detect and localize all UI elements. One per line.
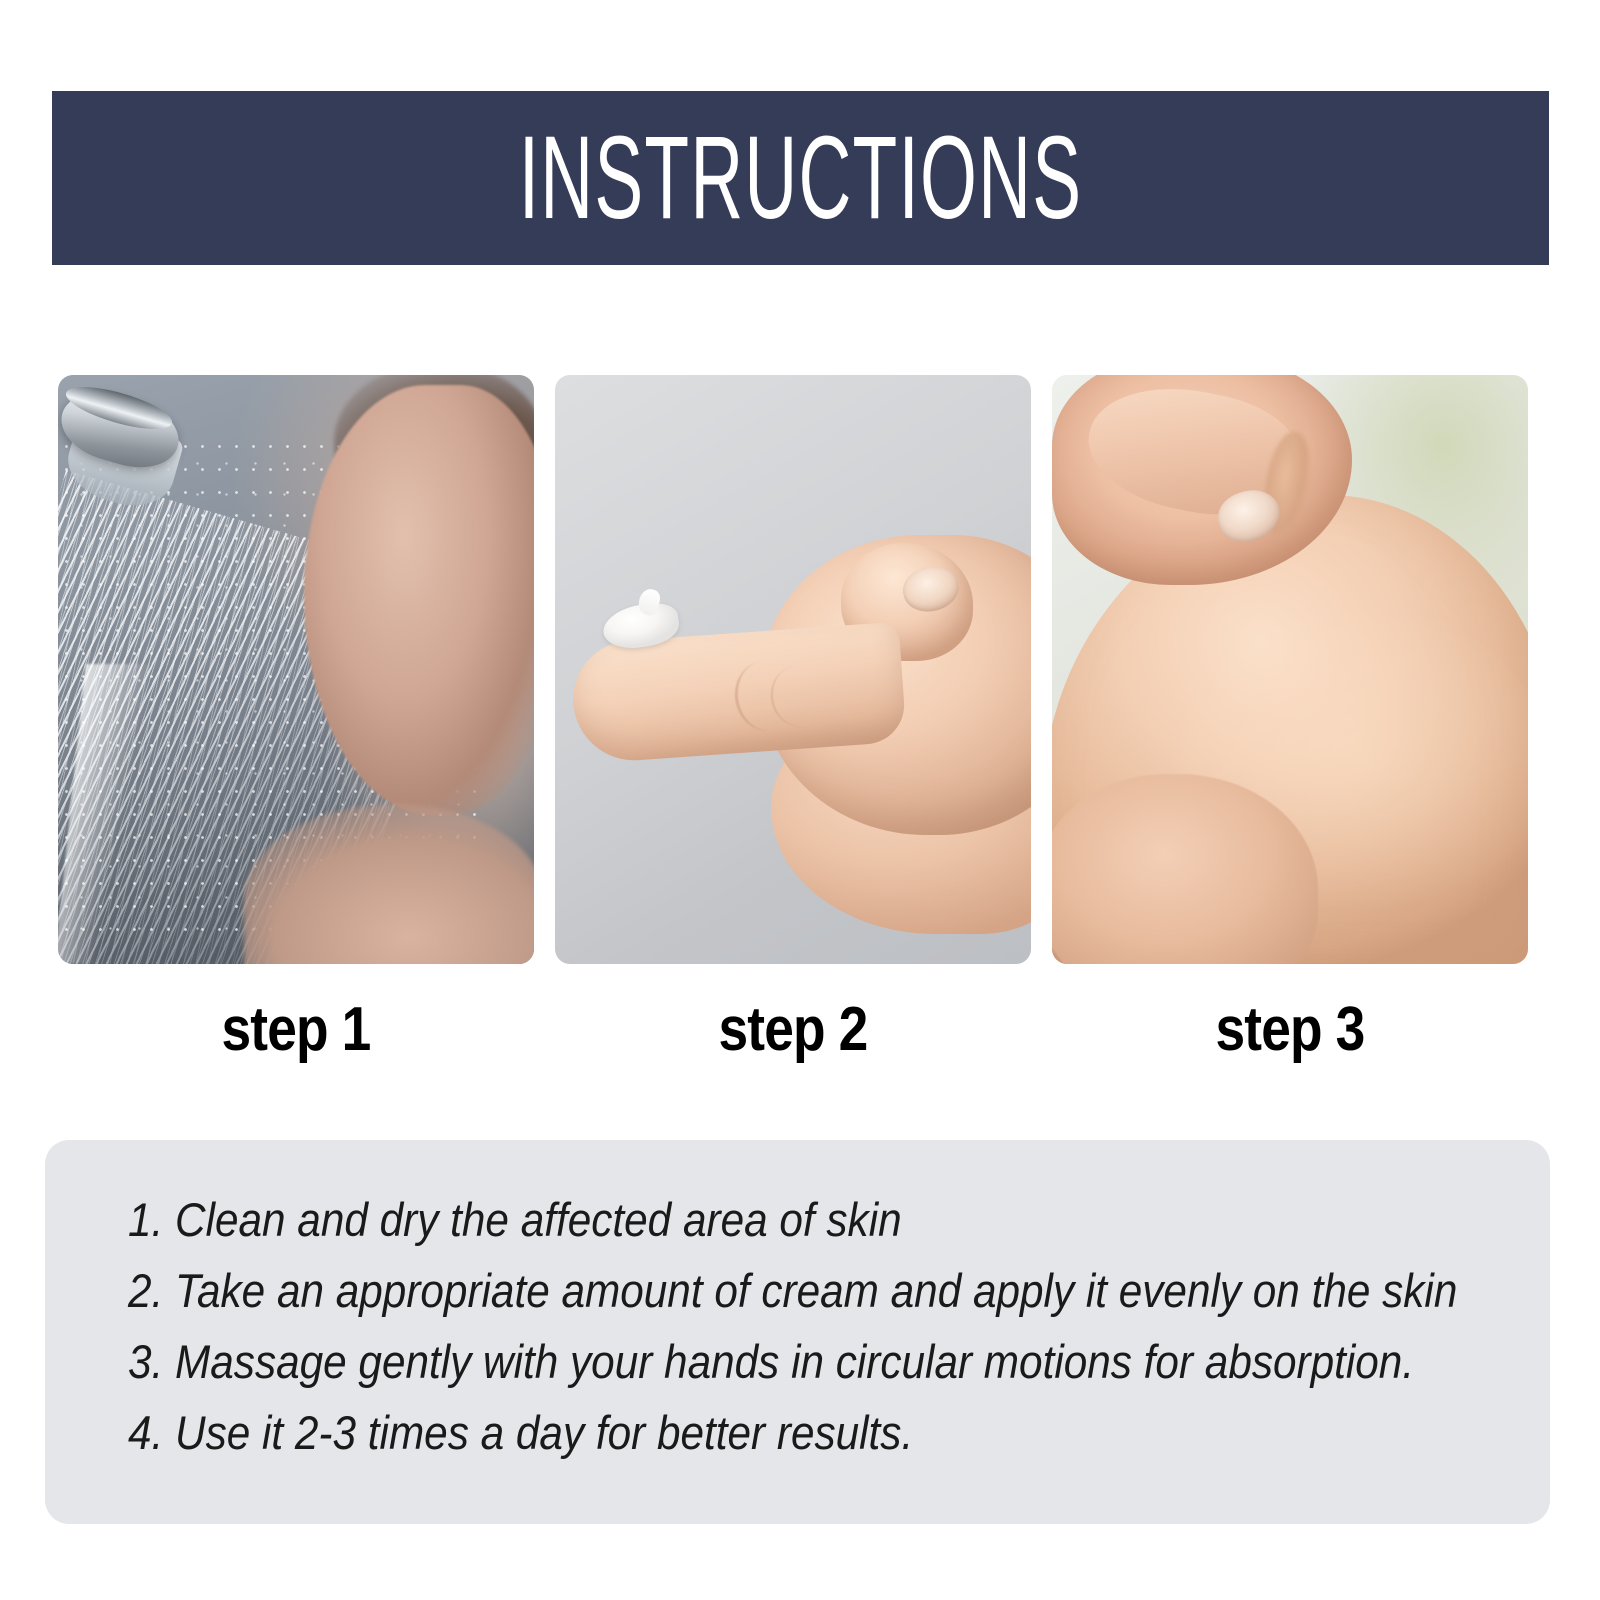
step-card-2 bbox=[555, 375, 1031, 964]
step-card-1 bbox=[58, 375, 534, 964]
cream-on-finger-photo bbox=[555, 375, 1031, 964]
massage-skin-photo bbox=[1052, 375, 1528, 964]
step-images-row bbox=[58, 375, 1528, 964]
step-label-2: step 2 bbox=[588, 985, 997, 1075]
instructions-panel: 1. Clean and dry the affected area of sk… bbox=[45, 1140, 1550, 1524]
shower-photo bbox=[58, 375, 534, 964]
instructions-header-bar: INSTRUCTIONS bbox=[52, 91, 1549, 265]
instruction-line-3: 3. Massage gently with your hands in cir… bbox=[128, 1326, 1381, 1397]
step-card-3 bbox=[1052, 375, 1528, 964]
instruction-line-2: 2. Take an appropriate amount of cream a… bbox=[128, 1255, 1381, 1326]
instructions-list: 1. Clean and dry the affected area of sk… bbox=[128, 1184, 1520, 1468]
instruction-line-4: 4. Use it 2-3 times a day for better res… bbox=[128, 1397, 1381, 1468]
step-label-3: step 3 bbox=[1085, 985, 1494, 1075]
step-labels-row: step 1 step 2 step 3 bbox=[58, 985, 1528, 1075]
step-label-1: step 1 bbox=[91, 985, 500, 1075]
instruction-line-1: 1. Clean and dry the affected area of sk… bbox=[128, 1184, 1381, 1255]
page-title: INSTRUCTIONS bbox=[519, 119, 1083, 237]
